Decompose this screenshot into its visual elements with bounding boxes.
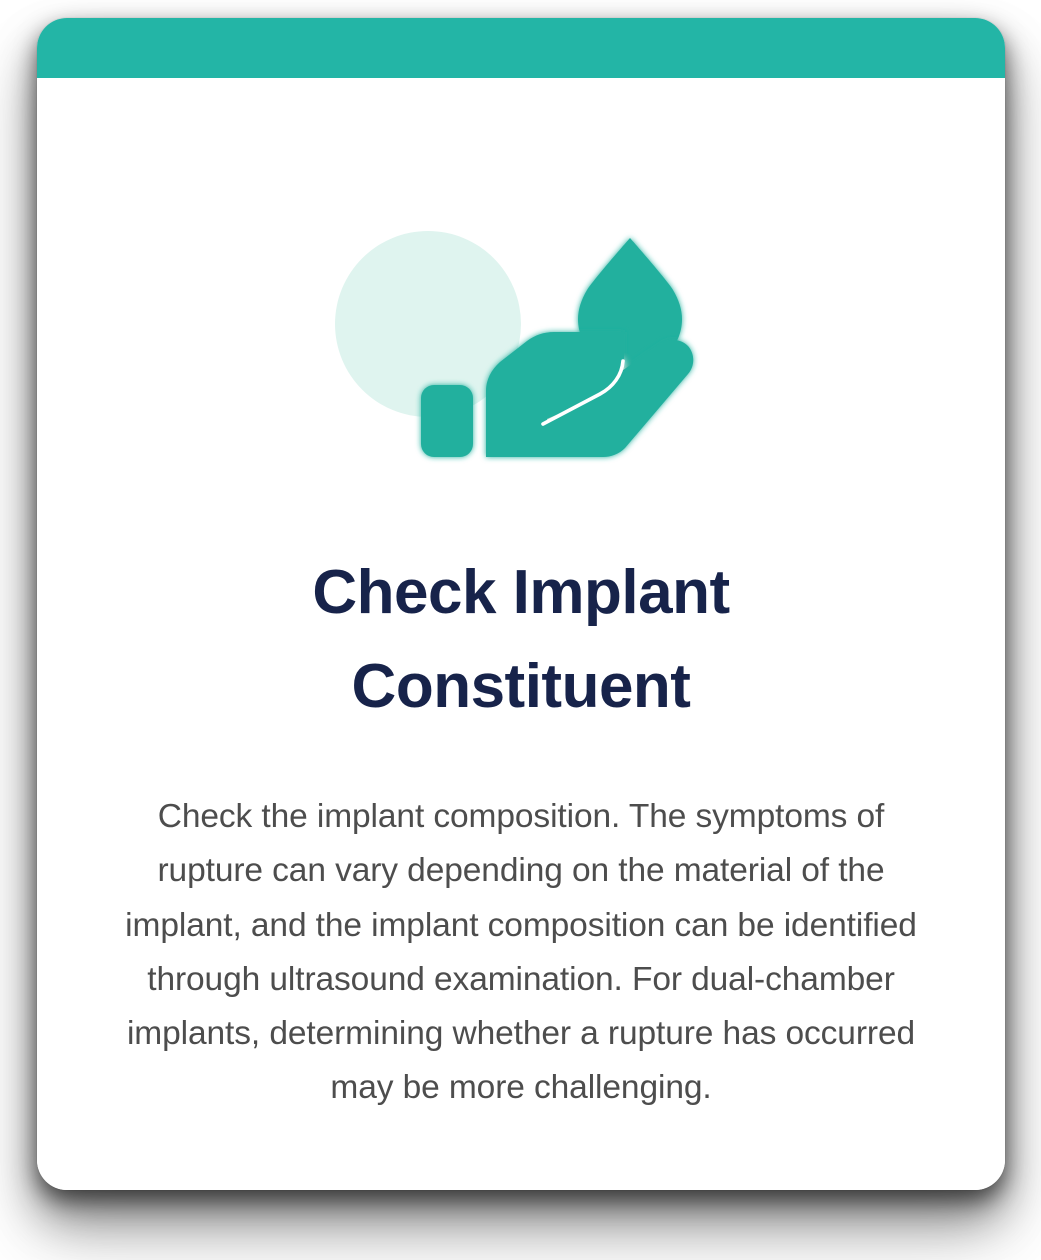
open-hand bbox=[486, 332, 693, 457]
implant-card-rectangle bbox=[421, 385, 473, 457]
page-title: Check Implant Constituent bbox=[211, 546, 831, 734]
card-accent-bar bbox=[37, 18, 1005, 78]
card-description: Check the implant composition. The sympt… bbox=[116, 790, 926, 1116]
hand-holding-droplet-icon bbox=[331, 228, 711, 488]
screen-root: Check Implant Constituent Check the impl… bbox=[0, 0, 1041, 1260]
info-card: Check Implant Constituent Check the impl… bbox=[37, 18, 1005, 1190]
card-body: Check Implant Constituent Check the impl… bbox=[37, 78, 1005, 1190]
